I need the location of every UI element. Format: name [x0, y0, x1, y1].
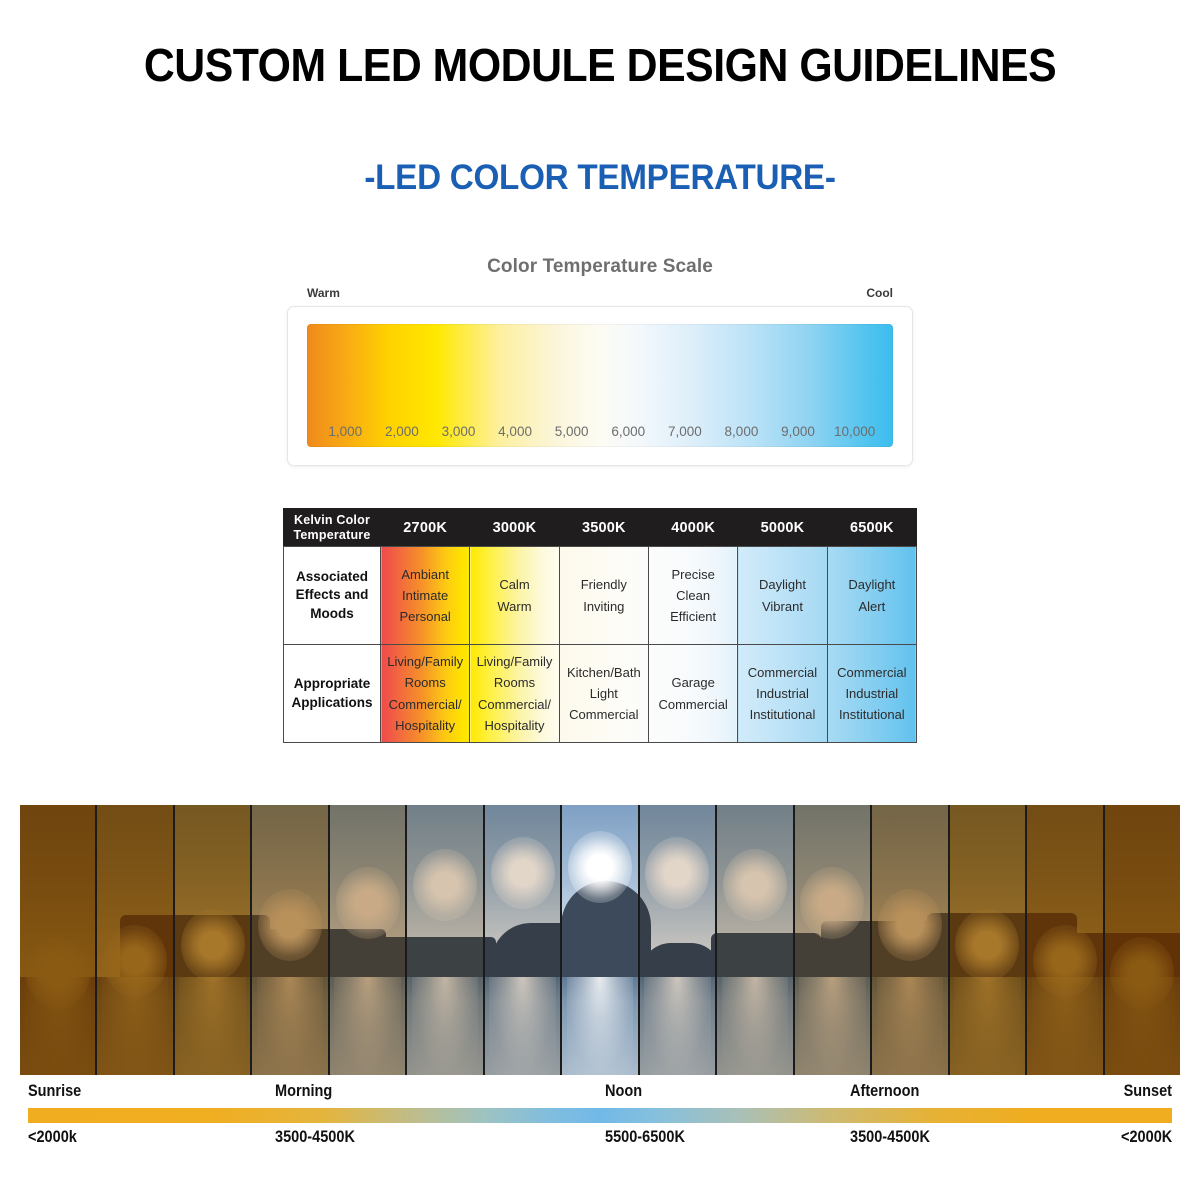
- kelvin-label-sunset: <2000K: [1121, 1128, 1172, 1147]
- scale-tick-labels: 1,0002,0003,0004,0005,0006,0007,0008,000…: [307, 424, 893, 439]
- page-subtitle: -LED COLOR TEMPERATURE-: [30, 158, 1170, 198]
- table-corner-header: Kelvin Color Temperature: [284, 509, 381, 547]
- scale-tick-4: 5,000: [543, 424, 600, 439]
- time-of-day-gradient-bar: [28, 1108, 1172, 1123]
- scale-cool-label: Cool: [866, 286, 893, 300]
- scale-tick-7: 8,000: [713, 424, 770, 439]
- time-of-day-kelvin-labels: <2000k3500-4500K5500-6500K3500-4500K<200…: [0, 1128, 1200, 1154]
- table-cell: PreciseCleanEfficient: [648, 547, 737, 645]
- table-column-header-6500k: 6500K: [827, 509, 916, 547]
- daylight-panel: [872, 805, 949, 1075]
- table-cell: CommercialIndustrialInstitutional: [738, 645, 827, 743]
- table-row: Appropriate ApplicationsLiving/FamilyRoo…: [284, 645, 917, 743]
- table-cell: DaylightAlert: [827, 547, 916, 645]
- daylight-panel: [795, 805, 872, 1075]
- scale-tick-8: 9,000: [770, 424, 827, 439]
- table-cell: GarageCommercial: [648, 645, 737, 743]
- scale-tick-2: 3,000: [430, 424, 487, 439]
- daylight-panel: [485, 805, 562, 1075]
- table-row: Associated Effects and MoodsAmbiantIntim…: [284, 547, 917, 645]
- table-row-header: Associated Effects and Moods: [284, 547, 381, 645]
- table-cell: Living/FamilyRoomsCommercial/Hospitality: [470, 645, 559, 743]
- daylight-panel: [175, 805, 252, 1075]
- page-root: CUSTOM LED MODULE DESIGN GUIDELINES -LED…: [0, 0, 1200, 1200]
- time-of-day-labels: SunriseMorningNoonAfternoonSunset: [0, 1082, 1200, 1106]
- table-column-header-5000k: 5000K: [738, 509, 827, 547]
- kelvin-label-afternoon: 3500-4500K: [850, 1128, 930, 1147]
- table-column-header-2700k: 2700K: [381, 509, 470, 547]
- table-column-header-3000k: 3000K: [470, 509, 559, 547]
- time-label-sunset: Sunset: [1124, 1082, 1172, 1101]
- table-row-header: Appropriate Applications: [284, 645, 381, 743]
- table-cell: CommercialIndustrialInstitutional: [827, 645, 916, 743]
- daylight-panel: [640, 805, 717, 1075]
- table-cell: DaylightVibrant: [738, 547, 827, 645]
- color-temperature-scale-section: Color Temperature Scale Warm Cool 1,0002…: [287, 256, 913, 466]
- scale-warm-label: Warm: [307, 286, 340, 300]
- table-cell: FriendlyInviting: [559, 547, 648, 645]
- daylight-photo-strip: [20, 805, 1180, 1075]
- daylight-panel: [97, 805, 174, 1075]
- table-column-header-3500k: 3500K: [559, 509, 648, 547]
- table-column-header-4000k: 4000K: [648, 509, 737, 547]
- time-label-morning: Morning: [275, 1082, 332, 1101]
- scale-tick-1: 2,000: [374, 424, 431, 439]
- scale-tick-6: 7,000: [657, 424, 714, 439]
- scale-tick-9: 10,000: [826, 424, 883, 439]
- table-cell: Living/FamilyRoomsCommercial/Hospitality: [381, 645, 470, 743]
- daylight-panel: [562, 805, 639, 1075]
- kelvin-label-sunrise: <2000k: [28, 1128, 77, 1147]
- table-cell: CalmWarm: [470, 547, 559, 645]
- kelvin-color-temperature-table: Kelvin Color Temperature2700K3000K3500K4…: [283, 508, 917, 743]
- daylight-panel: [407, 805, 484, 1075]
- scale-title: Color Temperature Scale: [287, 256, 913, 278]
- time-label-sunrise: Sunrise: [28, 1082, 81, 1101]
- table-cell: AmbiantIntimatePersonal: [381, 547, 470, 645]
- daylight-panel: [330, 805, 407, 1075]
- daylight-panel: [20, 805, 97, 1075]
- scale-end-labels: Warm Cool: [287, 286, 913, 304]
- daylight-panel: [1027, 805, 1104, 1075]
- scale-gradient-bar: 1,0002,0003,0004,0005,0006,0007,0008,000…: [307, 324, 893, 447]
- scale-card: 1,0002,0003,0004,0005,0006,0007,0008,000…: [287, 306, 913, 466]
- scale-tick-0: 1,000: [317, 424, 374, 439]
- kelvin-label-morning: 3500-4500K: [275, 1128, 355, 1147]
- kelvin-label-noon: 5500-6500K: [605, 1128, 685, 1147]
- scale-tick-3: 4,000: [487, 424, 544, 439]
- time-label-afternoon: Afternoon: [850, 1082, 919, 1101]
- daylight-panel: [1105, 805, 1180, 1075]
- time-label-noon: Noon: [605, 1082, 642, 1101]
- table-cell: Kitchen/BathLightCommercial: [559, 645, 648, 743]
- scale-tick-5: 6,000: [600, 424, 657, 439]
- daylight-panel: [717, 805, 794, 1075]
- daylight-panel: [252, 805, 329, 1075]
- table-header-row: Kelvin Color Temperature2700K3000K3500K4…: [284, 509, 917, 547]
- page-title: CUSTOM LED MODULE DESIGN GUIDELINES: [42, 38, 1158, 92]
- daylight-panel: [950, 805, 1027, 1075]
